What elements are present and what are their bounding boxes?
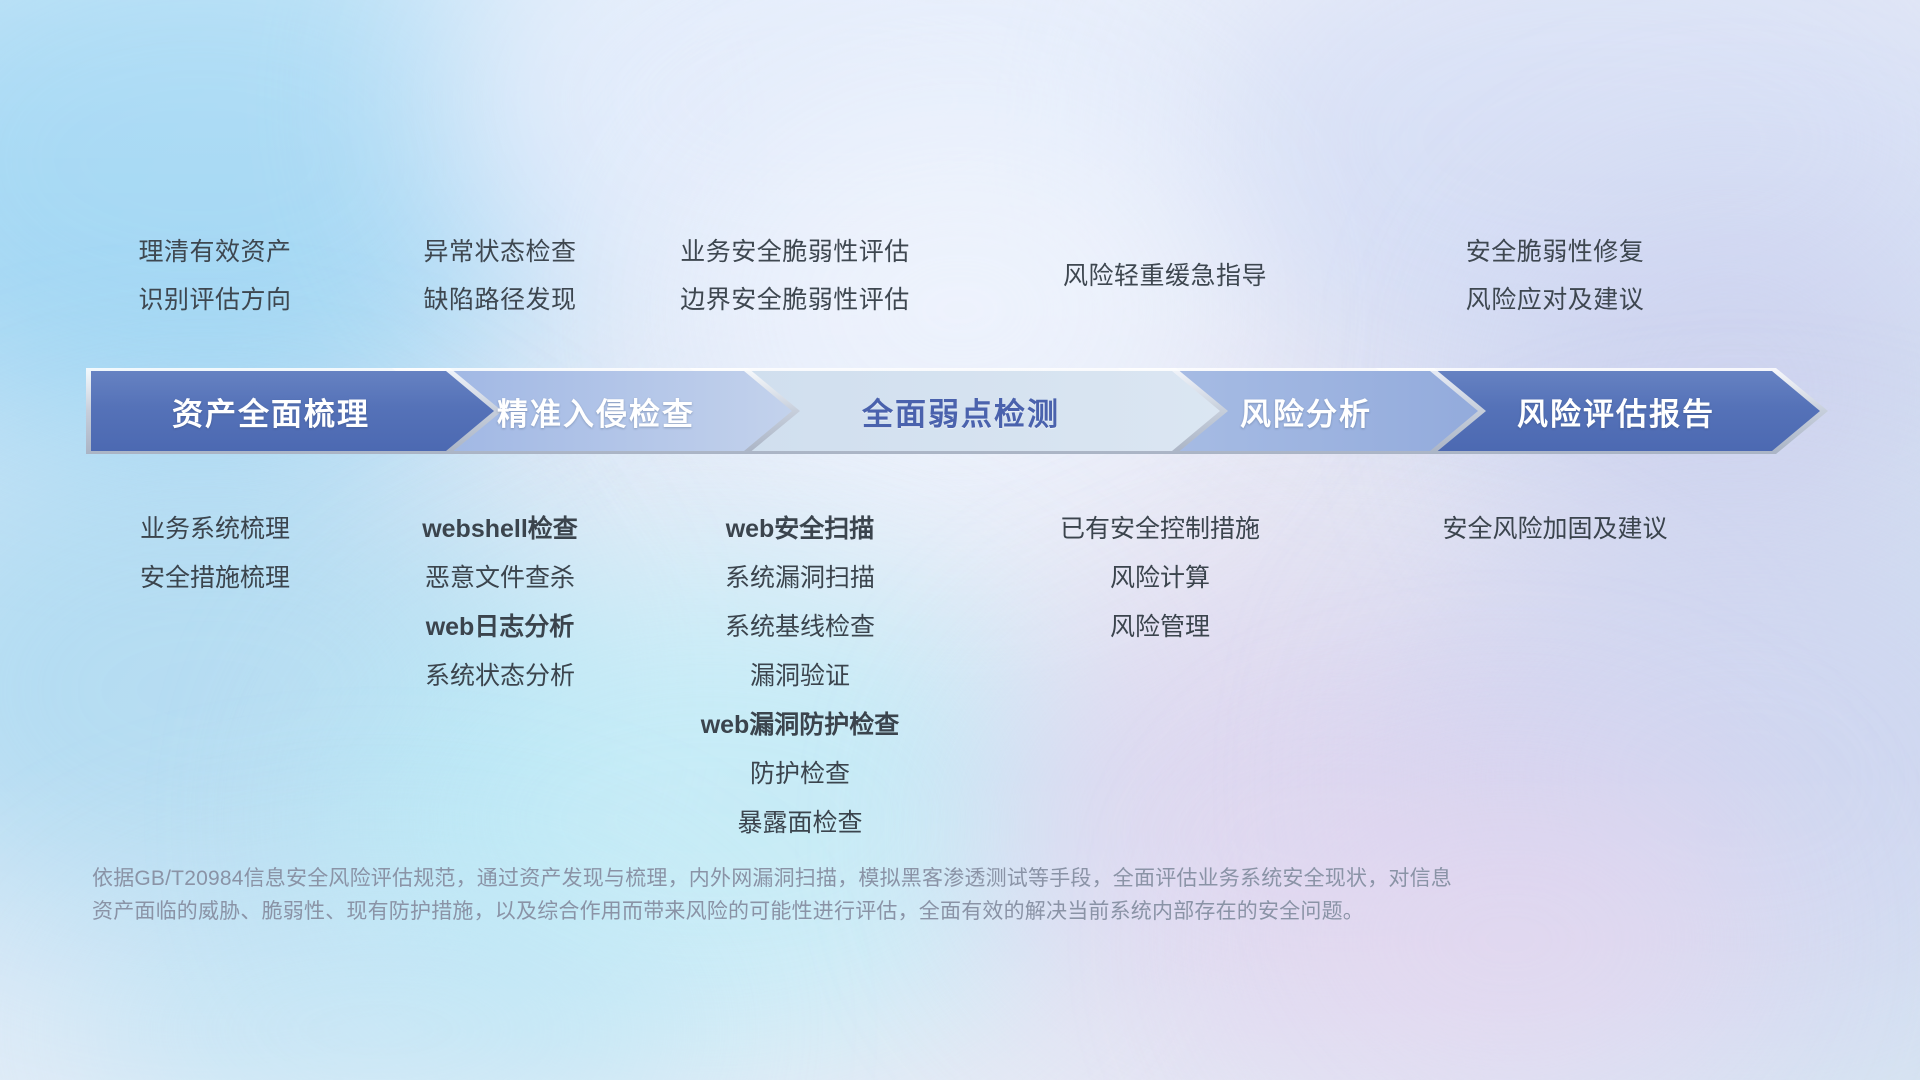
- stage-top-labels-4: 风险轻重缓急指导: [1010, 252, 1320, 300]
- top-label: 业务安全脆弱性评估: [625, 228, 965, 276]
- stage-bottom-list-2: webshell检查 恶意文件查杀 web日志分析 系统状态分析: [345, 505, 655, 701]
- footer-line-1: 依据GB/T20984信息安全风险评估规范，通过资产发现与梳理，内外网漏洞扫描，…: [92, 862, 1652, 895]
- stage-top-labels-5: 安全脆弱性修复 风险应对及建议: [1400, 228, 1710, 324]
- top-label: 缺陷路径发现: [345, 276, 655, 324]
- process-diagram: 理清有效资产 识别评估方向 异常状态检查 缺陷路径发现 业务安全脆弱性评估 边界…: [0, 0, 1920, 1080]
- list-item: webshell检查: [345, 505, 655, 554]
- top-label: 风险轻重缓急指导: [1010, 252, 1320, 300]
- stage-banner-5[interactable]: 风险评估报告: [1416, 368, 1816, 454]
- list-item: 漏洞验证: [645, 652, 955, 701]
- list-item: web安全扫描: [645, 505, 955, 554]
- stage-banner-label: 资产全面梳理: [172, 389, 370, 434]
- stage-banner-3[interactable]: 全面弱点检测: [726, 368, 1196, 454]
- top-label: 异常状态检查: [345, 228, 655, 276]
- stage-banner-1[interactable]: 资产全面梳理: [86, 368, 456, 454]
- stage-banner-label: 精准入侵检查: [497, 389, 695, 434]
- footer-line-2: 资产面临的威胁、脆弱性、现有防护措施，以及综合作用而带来风险的可能性进行评估，全…: [92, 895, 1652, 928]
- stage-top-labels-2: 异常状态检查 缺陷路径发现: [345, 228, 655, 324]
- list-item: 风险管理: [1005, 603, 1315, 652]
- list-item: 系统漏洞扫描: [645, 554, 955, 603]
- list-item: 安全风险加固及建议: [1400, 505, 1710, 554]
- list-item: 系统基线检查: [645, 603, 955, 652]
- list-item: 系统状态分析: [345, 652, 655, 701]
- list-item: 防护检查: [645, 750, 955, 799]
- top-label: 风险应对及建议: [1400, 276, 1710, 324]
- stage-banner-label: 风险评估报告: [1517, 389, 1715, 434]
- footer-description: 依据GB/T20984信息安全风险评估规范，通过资产发现与梳理，内外网漏洞扫描，…: [92, 862, 1652, 928]
- top-label: 理清有效资产: [60, 228, 370, 276]
- stage-top-labels-3: 业务安全脆弱性评估 边界安全脆弱性评估: [625, 228, 965, 324]
- list-item: 业务系统梳理: [60, 505, 370, 554]
- stage-bottom-list-1: 业务系统梳理 安全措施梳理: [60, 505, 370, 603]
- stage-banner-2[interactable]: 精准入侵检查: [416, 368, 776, 454]
- top-label: 边界安全脆弱性评估: [625, 276, 965, 324]
- list-item: web漏洞防护检查: [645, 701, 955, 750]
- list-item: 暴露面检查: [645, 799, 955, 848]
- stage-banner-label: 风险分析: [1240, 389, 1372, 434]
- list-item: 安全措施梳理: [60, 554, 370, 603]
- list-item: web日志分析: [345, 603, 655, 652]
- top-label: 识别评估方向: [60, 276, 370, 324]
- list-item: 恶意文件查杀: [345, 554, 655, 603]
- stage-bottom-list-4: 已有安全控制措施 风险计算 风险管理: [1005, 505, 1315, 652]
- stage-banner-label: 全面弱点检测: [862, 389, 1060, 434]
- stage-top-labels-1: 理清有效资产 识别评估方向: [60, 228, 370, 324]
- stage-bottom-list-5: 安全风险加固及建议: [1400, 505, 1710, 554]
- list-item: 已有安全控制措施: [1005, 505, 1315, 554]
- top-label: 安全脆弱性修复: [1400, 228, 1710, 276]
- stage-bottom-list-3: web安全扫描 系统漏洞扫描 系统基线检查 漏洞验证 web漏洞防护检查 防护检…: [645, 505, 955, 848]
- stage-banner-labels: 资产全面梳理 精准入侵检查 全面弱点检测 风险分析 风险评估报告: [86, 368, 1828, 454]
- list-item: 风险计算: [1005, 554, 1315, 603]
